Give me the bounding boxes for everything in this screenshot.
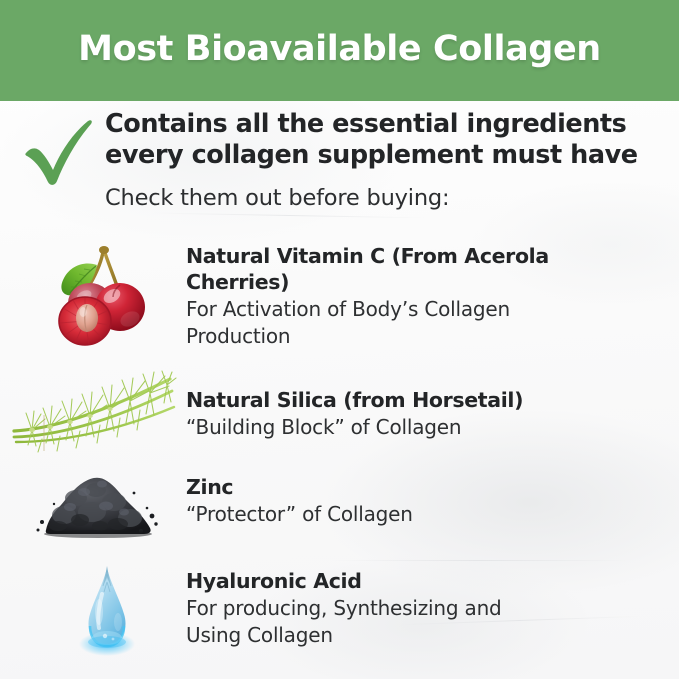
- ingredient-text-block: Natural Vitamin C (From Acerola Cherries…: [186, 243, 656, 349]
- ingredient-desc-line-1: For producing, Synthesizing and: [186, 595, 656, 621]
- ingredient-title-line-1: Hyaluronic Acid: [186, 568, 656, 594]
- ingredient-title-line-1: Natural Vitamin C (From Acerola: [186, 243, 656, 269]
- ingredient-desc-line-2: Production: [186, 323, 656, 349]
- ingredient-text-block: Natural Silica (from Horsetail) “Buildin…: [186, 387, 656, 440]
- ingredient-title-line-2: Cherries): [186, 269, 656, 295]
- horsetail-plant-icon: [12, 369, 177, 458]
- ingredient-title-line-1: Zinc: [186, 474, 656, 500]
- ingredient-text-block: Zinc “Protector” of Collagen: [186, 474, 656, 527]
- ingredient-desc-line-1: “Building Block” of Collagen: [186, 414, 656, 440]
- infographic-container: Most Bioavailable Collagen Contains all …: [0, 0, 679, 679]
- ingredient-desc-line-1: “Protector” of Collagen: [186, 501, 656, 527]
- header-banner: Most Bioavailable Collagen: [0, 0, 679, 101]
- ingredient-text-block: Hyaluronic Acid For producing, Synthesiz…: [186, 568, 656, 648]
- page-title: Most Bioavailable Collagen: [0, 0, 679, 101]
- ingredient-desc-line-2: Using Collagen: [186, 622, 656, 648]
- ingredient-desc-line-1: For Activation of Body’s Collagen: [186, 296, 656, 322]
- acerola-cherries-icon: [45, 241, 160, 355]
- zinc-powder-icon: [34, 460, 164, 544]
- ingredient-title-line-1: Natural Silica (from Horsetail): [186, 387, 656, 413]
- water-droplet-icon: [72, 560, 142, 664]
- ingredient-list: Natural Vitamin C (From Acerola Cherries…: [0, 0, 679, 679]
